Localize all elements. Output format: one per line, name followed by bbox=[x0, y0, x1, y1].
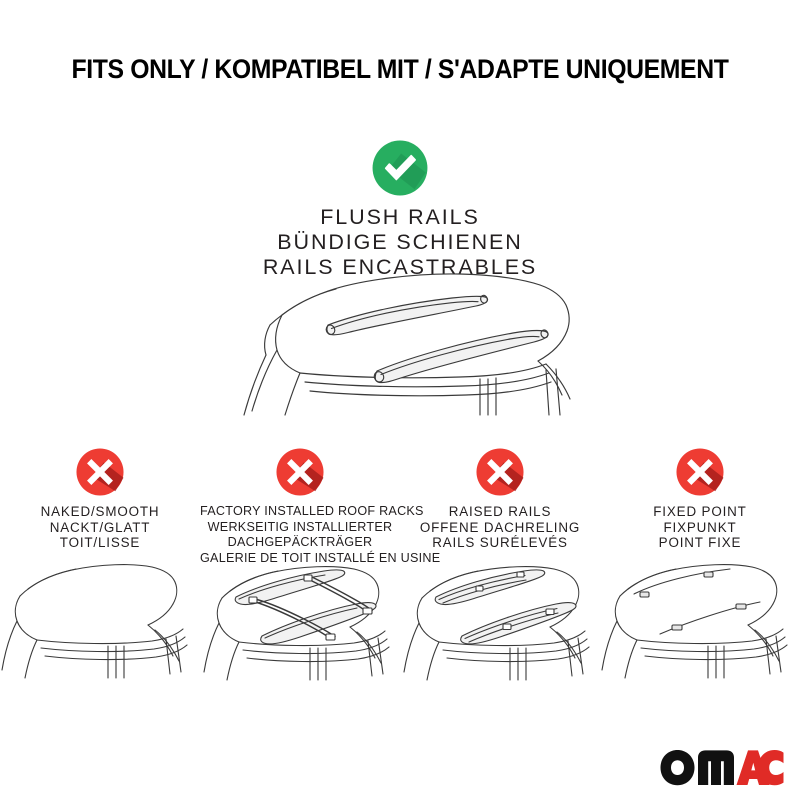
label-line-fr: POINT FIXE bbox=[600, 535, 800, 551]
car-roof-factory-racks-illustration bbox=[200, 556, 400, 681]
label-line-fr: TOIT/LISSE bbox=[0, 535, 200, 551]
label-line-en: RAISED RAILS bbox=[400, 504, 600, 520]
x-circle-icon bbox=[676, 448, 724, 496]
incompatible-item-naked-smooth: NAKED/SMOOTH NACKT/GLATT TOIT/LISSE bbox=[0, 448, 200, 566]
car-roof-fixed-point-illustration bbox=[600, 556, 800, 681]
car-roof-naked-smooth-illustration bbox=[0, 556, 200, 681]
x-circle-icon bbox=[76, 448, 124, 496]
compatible-heading-line-de: BÜNDIGE SCHIENEN bbox=[0, 230, 800, 255]
car-roof-raised-rails-illustration bbox=[400, 556, 600, 681]
label-line-de-2: DACHGEPÄCKTRÄGER bbox=[200, 535, 400, 551]
compatible-section: FLUSH RAILS BÜNDIGE SCHIENEN RAILS ENCAS… bbox=[0, 140, 800, 280]
incompatible-item-fixed-point: FIXED POINT FIXPUNKT POINT FIXE bbox=[600, 448, 800, 566]
label-line-en: FIXED POINT bbox=[600, 504, 800, 520]
incompatible-item-raised-rails: RAISED RAILS OFFENE DACHRELING RAILS SUR… bbox=[400, 448, 600, 566]
incompatible-label: NAKED/SMOOTH NACKT/GLATT TOIT/LISSE bbox=[0, 504, 200, 551]
label-line-de: FIXPUNKT bbox=[600, 520, 800, 536]
omac-logo: OMAC bbox=[660, 748, 784, 788]
label-line-en: NAKED/SMOOTH bbox=[0, 504, 200, 520]
compatible-heading-line-en: FLUSH RAILS bbox=[0, 205, 800, 230]
label-line-de-1: WERKSEITIG INSTALLIERTER bbox=[200, 520, 400, 536]
label-line-fr: RAILS SURÉLEVÉS bbox=[400, 535, 600, 551]
label-line-de: NACKT/GLATT bbox=[0, 520, 200, 536]
x-circle-icon bbox=[276, 448, 324, 496]
omac-logo-text: OMAC bbox=[784, 748, 785, 749]
page-title: FITS ONLY / KOMPATIBEL MIT / S'ADAPTE UN… bbox=[26, 54, 774, 85]
incompatible-label: RAISED RAILS OFFENE DACHRELING RAILS SUR… bbox=[400, 504, 600, 551]
check-circle-icon bbox=[372, 140, 428, 196]
incompatible-item-factory-racks: FACTORY INSTALLED ROOF RACKS WERKSEITIG … bbox=[200, 448, 400, 566]
label-line-de: OFFENE DACHRELING bbox=[400, 520, 600, 536]
x-circle-icon bbox=[476, 448, 524, 496]
incompatible-section: NAKED/SMOOTH NACKT/GLATT TOIT/LISSE bbox=[0, 448, 800, 566]
car-roof-flush-rails-illustration bbox=[210, 265, 610, 440]
label-line-en: FACTORY INSTALLED ROOF RACKS bbox=[200, 504, 400, 520]
incompatible-label: FIXED POINT FIXPUNKT POINT FIXE bbox=[600, 504, 800, 551]
